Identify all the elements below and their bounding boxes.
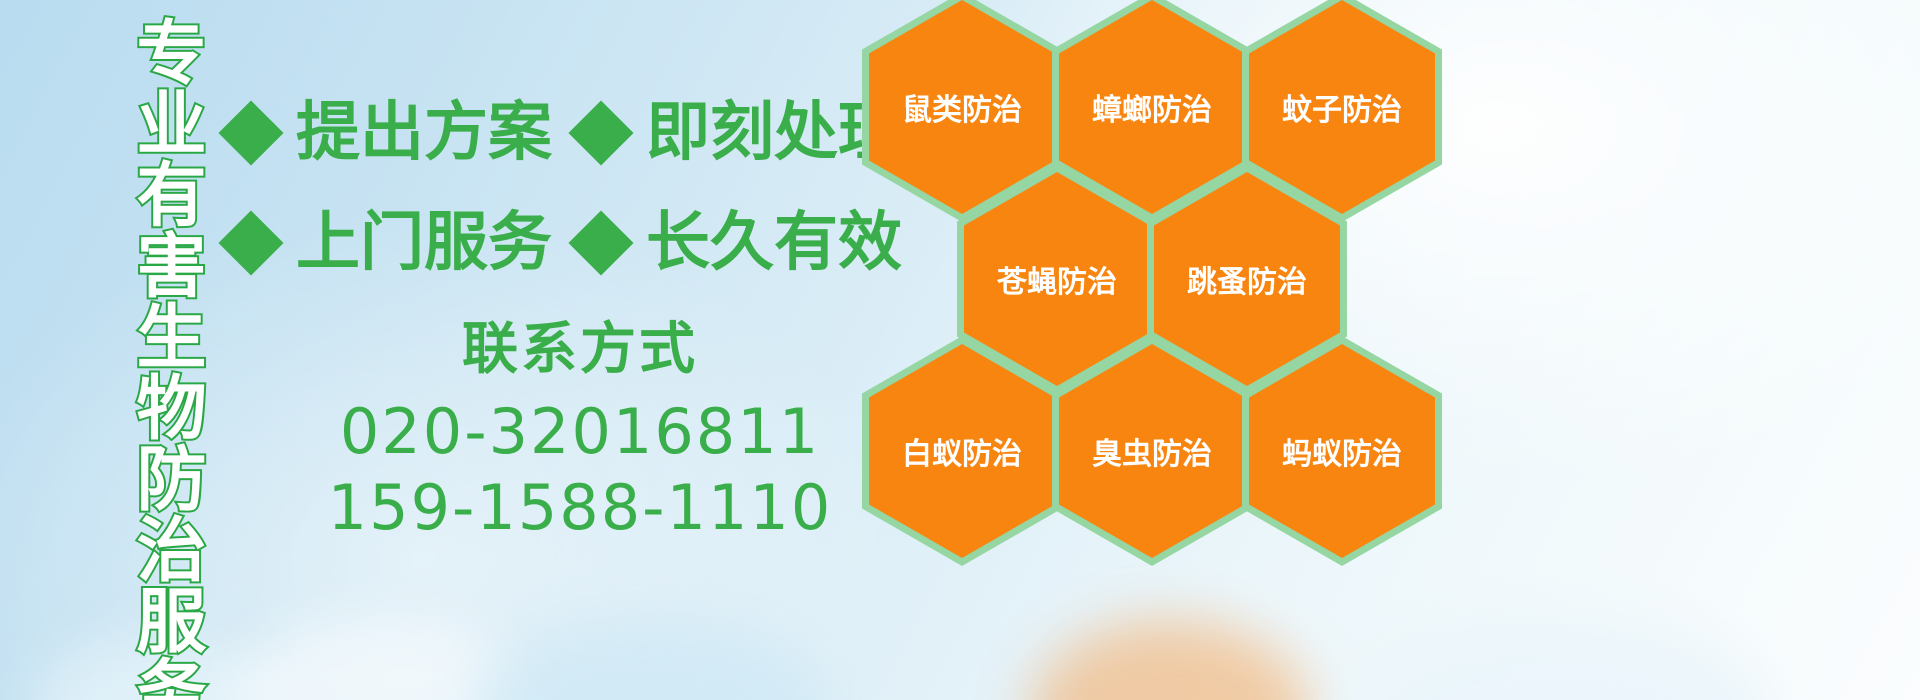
diamond-icon — [218, 210, 283, 275]
diamond-icon — [568, 210, 633, 275]
feature-row: 提出方案 即刻处理 — [228, 78, 878, 188]
background-blur-blob — [1350, 620, 1770, 700]
service-label: 鼠类防治 — [902, 85, 1022, 129]
contact-block: 联系方式 020-32016811 159-1588-1110 — [300, 318, 860, 546]
feature-row: 上门服务 长久有效 — [228, 188, 878, 298]
service-label: 蚂蚁防治 — [1282, 429, 1402, 473]
feature-label: 上门服务 — [296, 211, 552, 275]
pest-control-banner: 专业有害生物防治服务 提出方案 即刻处理 上门服务 长久有效 联系方式 020-… — [0, 0, 1920, 700]
hexagon-inner: 白蚁防治 — [869, 344, 1055, 558]
service-label: 蚊子防治 — [1282, 85, 1402, 129]
feature-list: 提出方案 即刻处理 上门服务 长久有效 — [228, 78, 878, 298]
contact-phone-landline[interactable]: 020-32016811 — [300, 394, 860, 470]
service-hexagon-grid: 鼠类防治 蟑螂防治 蚊子防治 苍蝇防治 跳蚤防治 白蚁防治 — [862, 0, 1462, 552]
background-blur-blob — [470, 620, 830, 700]
service-label: 苍蝇防治 — [997, 257, 1117, 301]
service-label: 臭虫防治 — [1092, 429, 1212, 473]
feature-label: 提出方案 — [296, 101, 552, 165]
service-label: 蟑螂防治 — [1092, 85, 1212, 129]
diamond-icon — [218, 100, 283, 165]
background-blur-blob — [230, 620, 530, 700]
vertical-slogan: 专业有害生物防治服务 — [105, 16, 201, 700]
contact-phone-mobile[interactable]: 159-1588-1110 — [300, 470, 860, 546]
service-label: 跳蚤防治 — [1187, 257, 1307, 301]
hexagon-inner: 蚂蚁防治 — [1249, 344, 1435, 558]
background-blur-blob — [1030, 620, 1310, 700]
diamond-icon — [568, 100, 633, 165]
service-label: 白蚁防治 — [902, 429, 1022, 473]
hexagon-inner: 臭虫防治 — [1059, 344, 1245, 558]
contact-title: 联系方式 — [300, 318, 860, 382]
